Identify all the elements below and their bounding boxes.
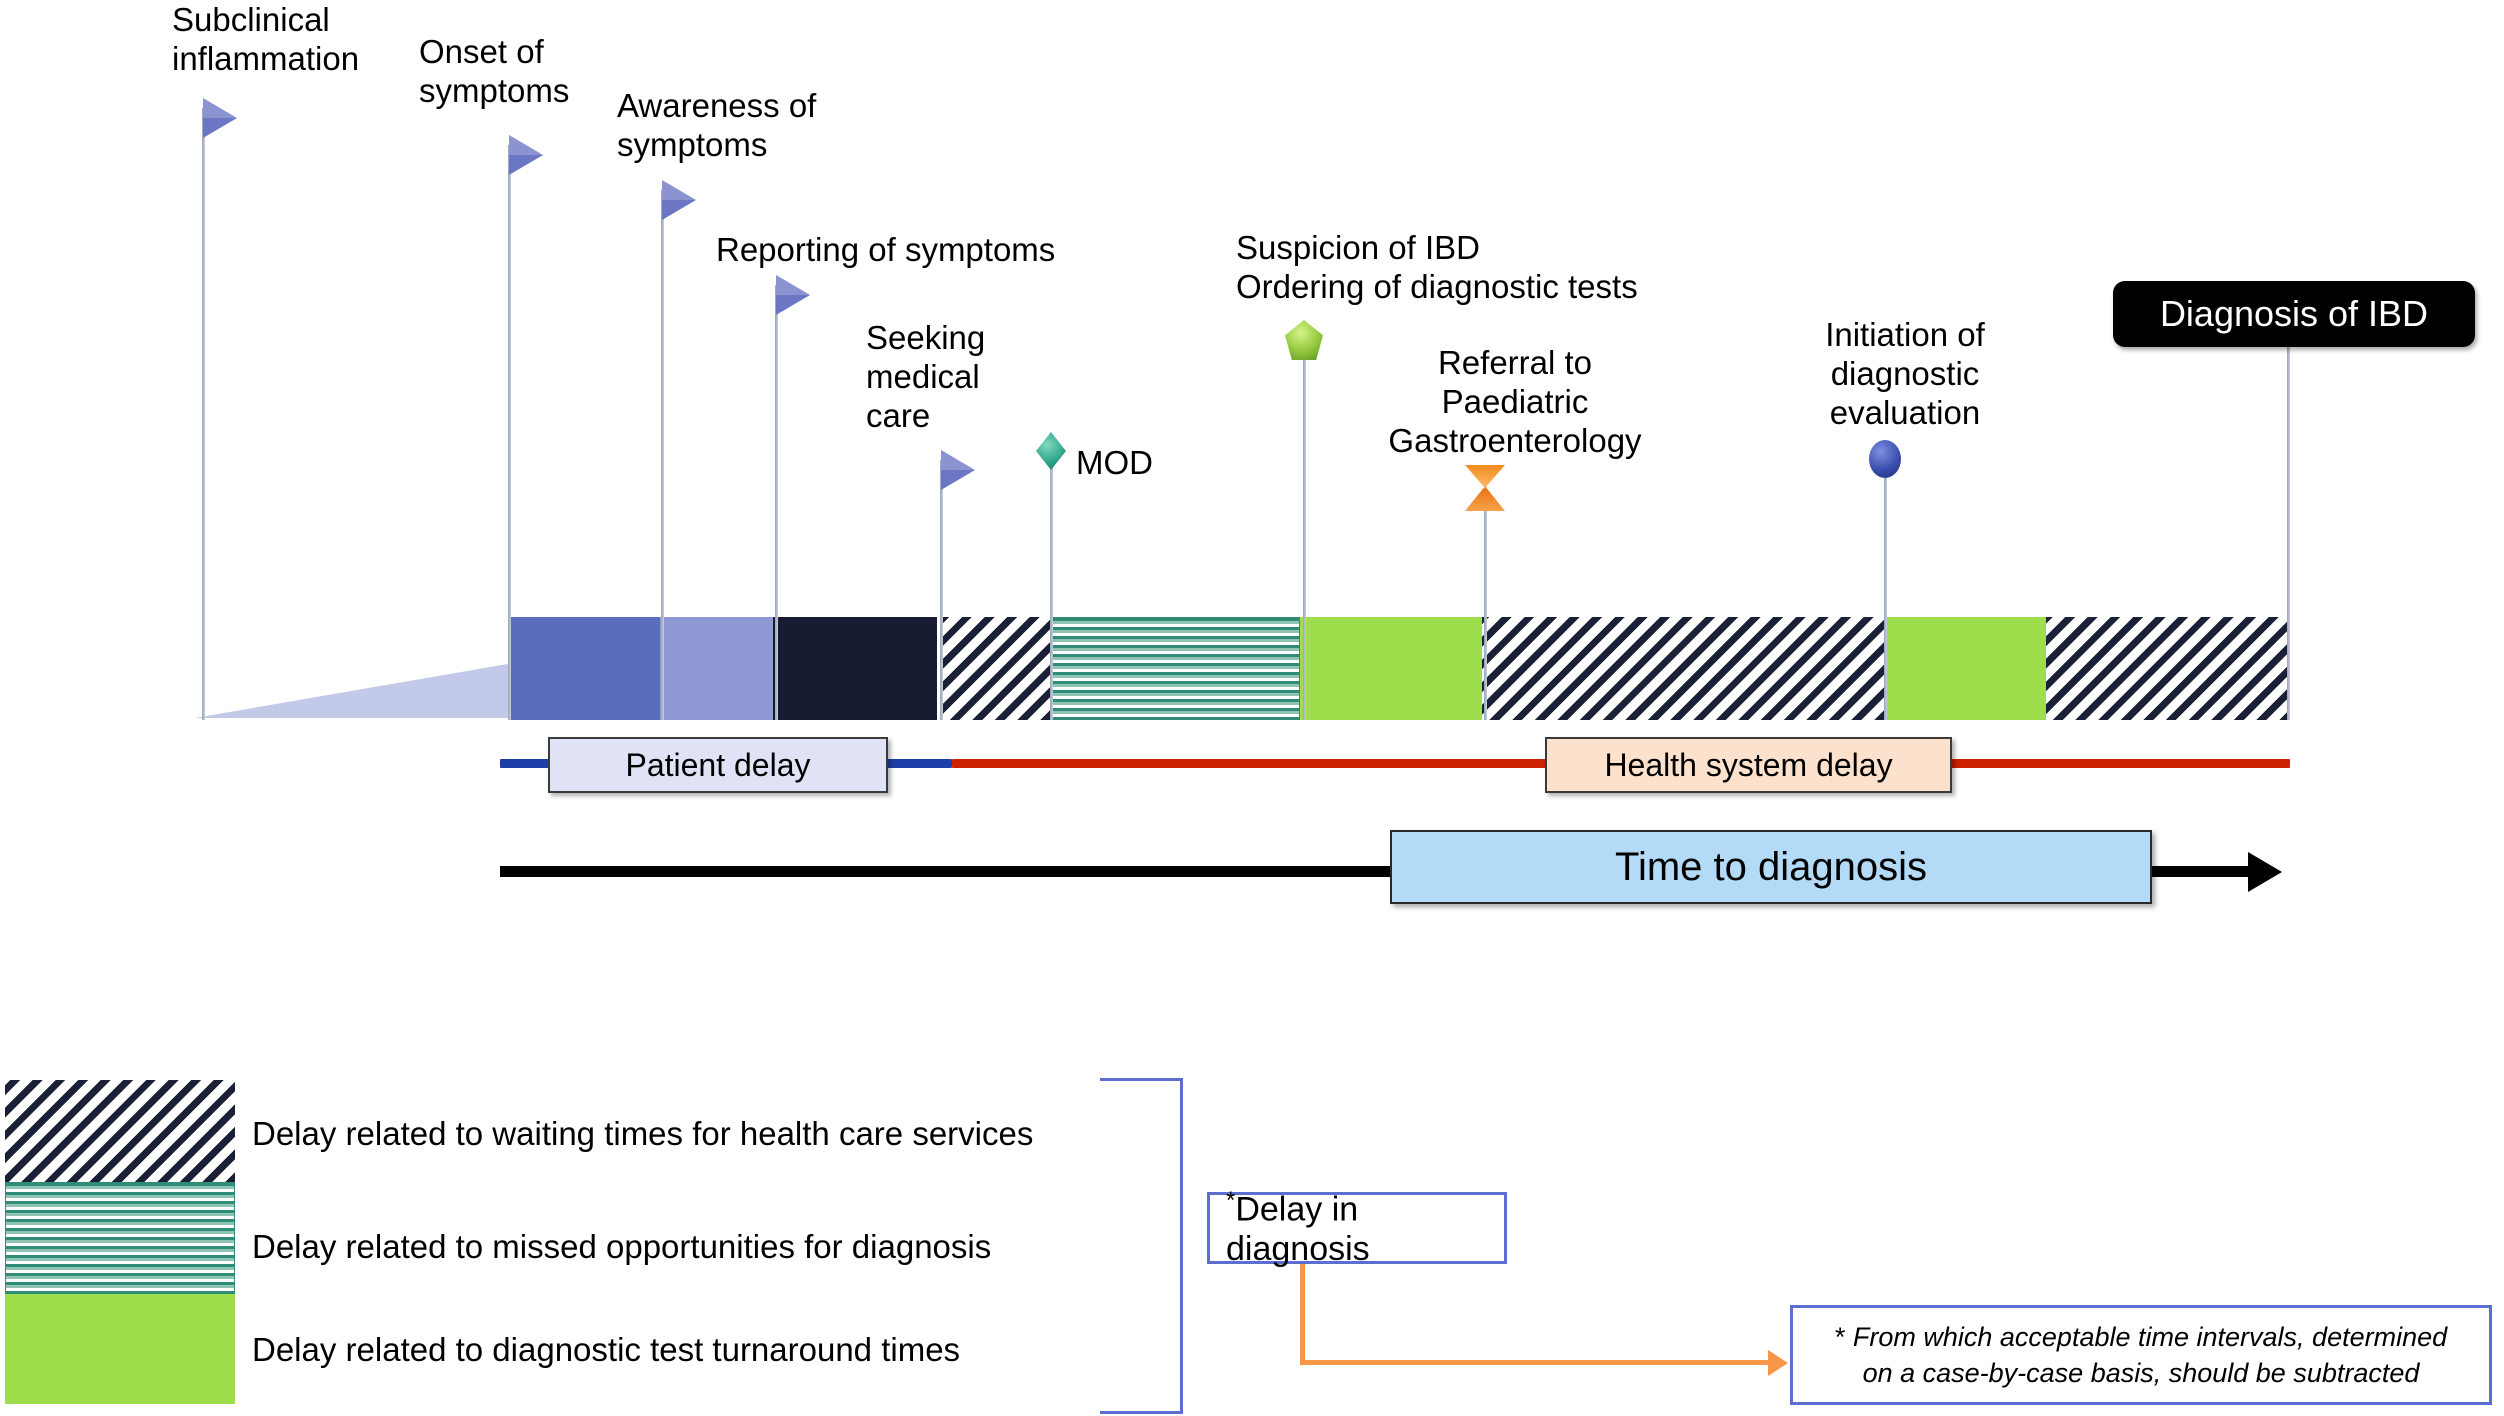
delay-in-diagnosis-box: *Delay in diagnosis: [1207, 1192, 1507, 1264]
figure-canvas: Subclinical inflammation Onset of sympto…: [0, 0, 2504, 1416]
time-to-diagnosis-line: [500, 866, 1392, 877]
pole-diagnosis-of-ibd: [2287, 320, 2290, 720]
patient-delay-rule-right: [885, 759, 952, 768]
legend-label-missed-opportunities: Delay related to missed opportunities fo…: [252, 1228, 1112, 1266]
legend-label-turnaround-times: Delay related to diagnostic test turnaro…: [252, 1331, 1112, 1369]
legend-bracket: [1100, 1078, 1183, 1414]
label-initiation-evaluation: Initiation of diagnostic evaluation: [1800, 315, 2010, 432]
pole-reporting-of-symptoms: [775, 285, 778, 720]
segment-waiting-1: [940, 617, 1050, 720]
diamond-icon-mod: [1036, 432, 1066, 470]
patient-delay-tag: Patient delay: [548, 737, 888, 793]
segment-awareness-block: [660, 617, 773, 720]
health-system-delay-label: Health system delay: [1604, 747, 1892, 784]
footnote-box: * From which acceptable time intervals, …: [1790, 1305, 2492, 1405]
segment-waiting-2: [1482, 617, 1884, 720]
delay-in-diagnosis-text: Delay in diagnosis: [1226, 1191, 1370, 1268]
label-awareness-of-symptoms: Awareness of symptoms: [617, 86, 857, 164]
footnote-text: * From which acceptable time intervals, …: [1835, 1319, 2447, 1391]
label-seeking-medical-care: Seeking medical care: [866, 318, 1036, 435]
legend-swatch-turnaround-times: [5, 1294, 235, 1404]
pole-subclinical-inflammation: [202, 108, 205, 720]
time-to-diagnosis-line-right: [2150, 866, 2250, 877]
label-referral: Referral to Paediatric Gastroenterology: [1365, 343, 1665, 460]
segment-onset-block: [508, 617, 660, 720]
time-to-diagnosis-arrow-icon: [2248, 852, 2282, 892]
asterisk-marker: *: [1226, 1187, 1235, 1214]
flag-icon-seeking-medical-care: [941, 450, 975, 490]
legend-swatch-missed-opportunities: [5, 1182, 235, 1294]
flag-icon-onset-of-symptoms: [509, 135, 543, 175]
segment-reporting-block: [773, 617, 937, 720]
pentagon-icon-suspicion-of-ibd: [1285, 320, 1323, 360]
pole-mod: [1050, 450, 1053, 720]
prodrome-ramp-segment: [195, 617, 515, 720]
segment-turnaround-2: [1884, 617, 2046, 720]
segment-missed-opportunities: [1050, 617, 1300, 720]
patient-delay-label: Patient delay: [625, 747, 810, 784]
callout-arrow-icon: [1768, 1350, 1788, 1376]
flag-icon-awareness-of-symptoms: [662, 180, 696, 220]
segment-turnaround-1: [1300, 617, 1482, 720]
footnote-asterisk: *: [1835, 1322, 1846, 1352]
footnote-body: From which acceptable time intervals, de…: [1853, 1322, 2447, 1388]
label-mod: MOD: [1076, 443, 1196, 482]
diagnosis-of-ibd-label: Diagnosis of IBD: [2160, 293, 2428, 335]
pole-suspicion-of-ibd: [1303, 335, 1306, 720]
callout-connector-vertical: [1300, 1264, 1305, 1364]
delay-in-diagnosis-label: *Delay in diagnosis: [1210, 1187, 1504, 1268]
bowtie-icon-referral: [1465, 465, 1505, 511]
label-onset-of-symptoms: Onset of symptoms: [419, 32, 639, 110]
callout-connector-horizontal: [1300, 1360, 1770, 1365]
pole-referral: [1484, 485, 1487, 720]
diagnosis-of-ibd-box: Diagnosis of IBD: [2113, 281, 2475, 347]
legend-label-waiting-times: Delay related to waiting times for healt…: [252, 1115, 1112, 1153]
flag-icon-subclinical-inflammation: [203, 98, 237, 138]
health-system-delay-tag: Health system delay: [1545, 737, 1952, 793]
legend-swatch-waiting-times: [5, 1080, 235, 1182]
label-reporting-of-symptoms: Reporting of symptoms: [716, 230, 1136, 269]
sphere-icon-initiation-evaluation: [1869, 440, 1901, 478]
time-to-diagnosis-label: Time to diagnosis: [1615, 845, 1927, 890]
pole-onset-of-symptoms: [508, 145, 511, 720]
label-subclinical-inflammation: Subclinical inflammation: [172, 0, 422, 78]
pole-awareness-of-symptoms: [661, 190, 664, 720]
segment-waiting-3: [2046, 617, 2289, 720]
time-to-diagnosis-box: Time to diagnosis: [1390, 830, 2152, 904]
pole-seeking-medical-care: [940, 460, 943, 720]
health-system-delay-rule-right: [1949, 759, 2290, 768]
pole-initiation-evaluation: [1884, 455, 1887, 720]
label-suspicion-of-ibd: Suspicion of IBD Ordering of diagnostic …: [1236, 228, 1716, 306]
health-system-delay-rule-left: [952, 759, 1547, 768]
flag-icon-reporting-of-symptoms: [776, 275, 810, 315]
